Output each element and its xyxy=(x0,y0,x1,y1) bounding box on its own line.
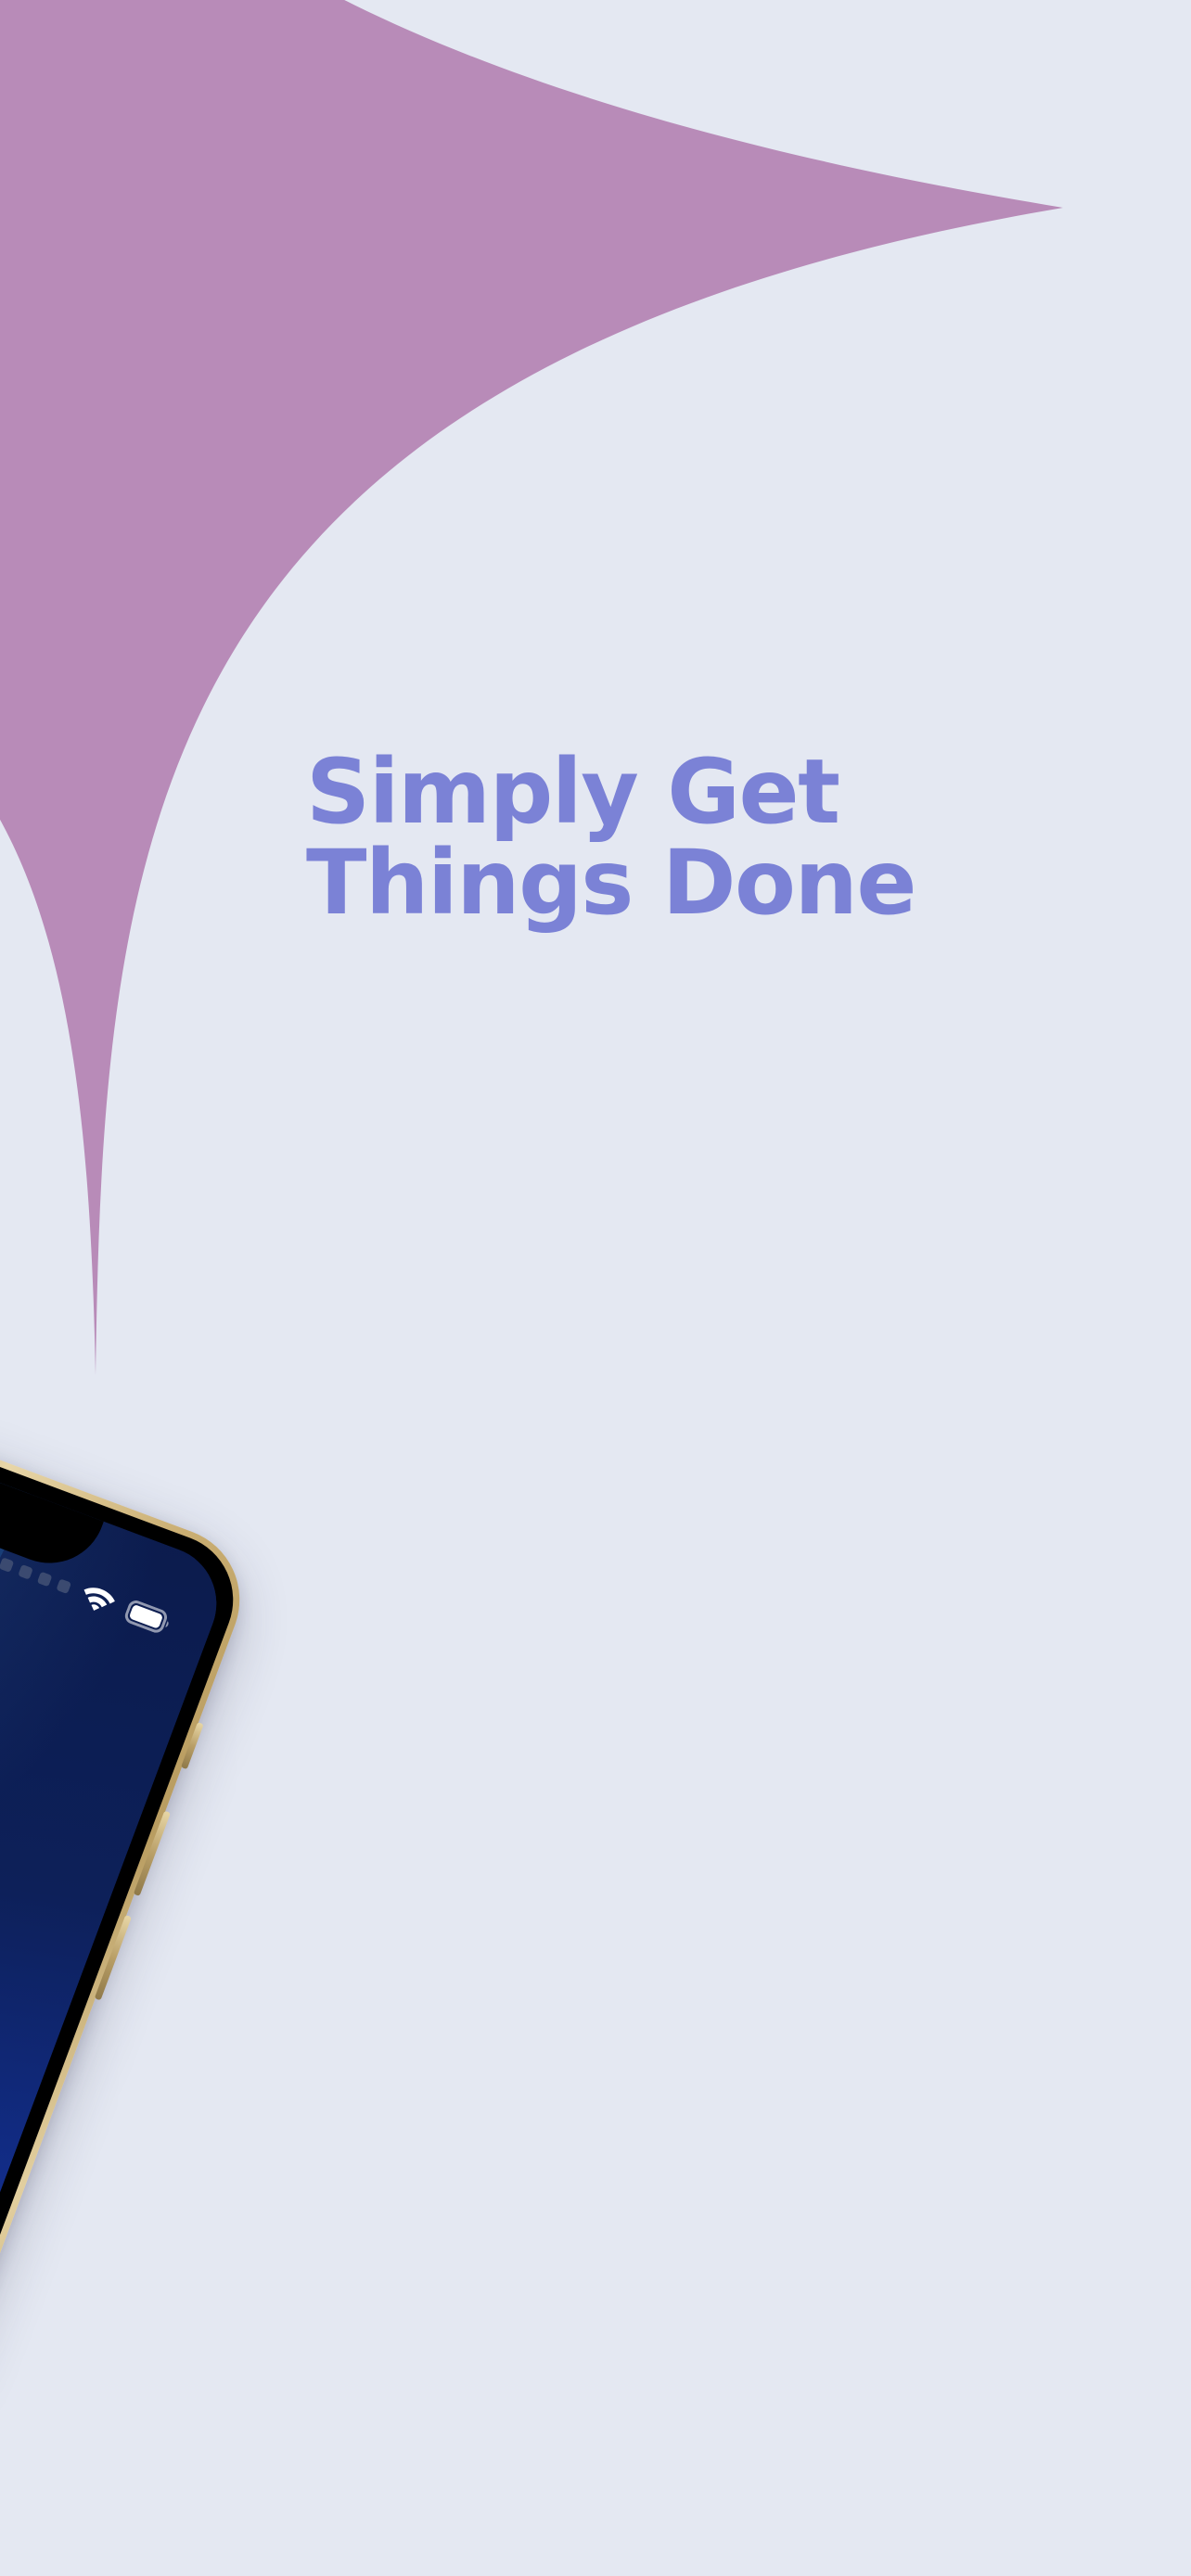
phone-mockup: T ✈ ✈ ✈ ✈ ✈ ✈ ✈ ✈ xyxy=(0,1343,261,2576)
phone-screen: T ✈ ✈ ✈ ✈ ✈ ✈ ✈ ✈ xyxy=(0,1371,233,2576)
marketing-screenshot: Simply Get Things Done xyxy=(0,0,1191,2576)
sparkle-decoration-layer xyxy=(0,0,1191,2576)
phone-bezel: T ✈ ✈ ✈ ✈ ✈ ✈ ✈ ✈ xyxy=(0,1351,252,2576)
phone-frame: T ✈ ✈ ✈ ✈ ✈ ✈ ✈ ✈ xyxy=(0,1343,261,2576)
four-point-star-shape xyxy=(0,0,1063,1375)
page-title: Simply Get Things Done xyxy=(306,747,1104,929)
